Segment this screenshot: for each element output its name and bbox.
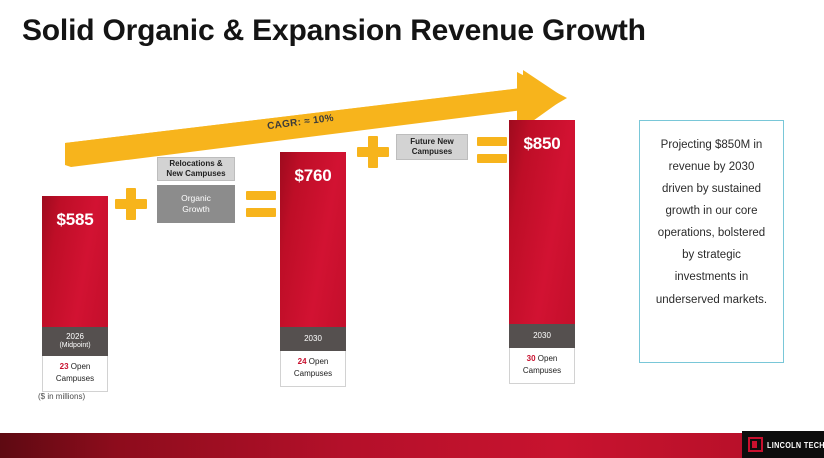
- bar-fill-1: $585: [42, 196, 108, 327]
- footer-bar: [0, 433, 824, 458]
- bar-column-1[interactable]: $585 2026 (Midpoint) 23 Open Campuses: [42, 196, 108, 392]
- callout-panel: Projecting $850M in revenue by 2030 driv…: [639, 120, 784, 363]
- bar-campus-3: 30 Open Campuses: [509, 348, 575, 384]
- bar-campus-3-word2: Campuses: [523, 366, 561, 375]
- bar-fill-2: $760: [280, 152, 346, 327]
- equals-operator-2: [477, 137, 507, 163]
- driver-organic-line1: Organic: [181, 193, 211, 203]
- bar-column-3[interactable]: $850 2030 30 Open Campuses: [509, 120, 575, 384]
- bar-campus-2-word2: Campuses: [294, 369, 332, 378]
- brand-logo: LINCOLN TECH: [742, 431, 824, 458]
- bar-year-1: 2026 (Midpoint): [42, 327, 108, 356]
- equals-operator-1: [246, 191, 276, 217]
- bar-campus-3-count: 30: [527, 354, 538, 363]
- bar-year-2: 2030: [280, 327, 346, 351]
- driver-relocations-line1: Relocations &: [169, 159, 222, 168]
- driver-relocations-new-campuses[interactable]: Relocations & New Campuses: [157, 157, 235, 181]
- bar-campus-2-count: 24: [298, 357, 309, 366]
- bar-year-2-value: 2030: [304, 334, 322, 343]
- bar-campus-2: 24 Open Campuses: [280, 351, 346, 387]
- bar-campus-3-word1: Open: [538, 354, 558, 363]
- bar-year-3-value: 2030: [533, 331, 551, 340]
- bar-campus-2-word1: Open: [309, 357, 329, 366]
- page-title: Solid Organic & Expansion Revenue Growth: [22, 14, 646, 48]
- bar-campus-1: 23 Open Campuses: [42, 356, 108, 392]
- driver-organic-growth[interactable]: Organic Growth: [157, 185, 235, 223]
- driver-relocations-line2: New Campuses: [166, 169, 225, 178]
- bar-year-1-sub: (Midpoint): [42, 342, 108, 351]
- bar-value-2: $760: [280, 166, 346, 186]
- bar-value-1: $585: [42, 210, 108, 230]
- bar-year-3: 2030: [509, 324, 575, 348]
- plus-operator-2: [357, 136, 389, 168]
- equals-bar-bottom-2: [477, 154, 507, 163]
- equals-bar-bottom-1: [246, 208, 276, 217]
- driver-future-new-campuses[interactable]: Future New Campuses: [396, 134, 468, 160]
- plus-operator-1: [115, 188, 147, 220]
- bar-year-1-value: 2026: [66, 332, 84, 341]
- driver-future-line1: Future New: [410, 137, 454, 146]
- bar-campus-1-word1: Open: [71, 362, 91, 371]
- bar-campus-1-word2: Campuses: [56, 374, 94, 383]
- bar-fill-3: $850: [509, 120, 575, 324]
- driver-future-line2: Campuses: [412, 147, 452, 156]
- units-footnote: ($ in millions): [38, 392, 85, 401]
- lincoln-tech-mark-icon: [748, 437, 763, 452]
- brand-logo-text: LINCOLN TECH: [767, 440, 824, 450]
- driver-organic-line2: Growth: [182, 204, 209, 214]
- equals-bar-top-2: [477, 137, 507, 146]
- bar-column-2[interactable]: $760 2030 24 Open Campuses: [280, 152, 346, 387]
- equals-bar-top-1: [246, 191, 276, 200]
- slide-canvas: Solid Organic & Expansion Revenue Growth…: [0, 0, 824, 458]
- bar-campus-1-count: 23: [60, 362, 71, 371]
- bar-value-3: $850: [509, 134, 575, 154]
